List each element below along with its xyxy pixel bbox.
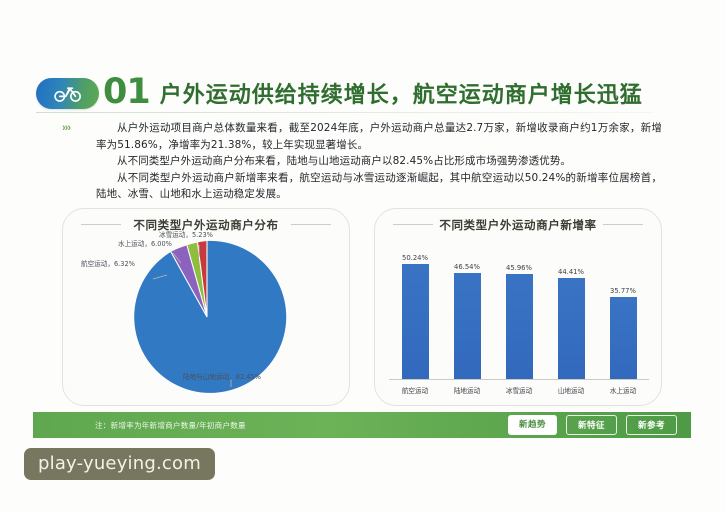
bar-column: 35.77% [602,239,644,379]
bar-value-label: 46.54% [454,263,480,271]
paragraph: 从不同类型户外运动商户新增率来看，航空运动与冰雪运动逐渐崛起，其中航空运动以50… [96,170,662,203]
bar-column: 50.24% [394,239,436,379]
bar-value-label: 44.41% [558,268,584,276]
footnote-text: 注：新增率为年新增商户数量/年初商户数量 [95,420,246,431]
slide-page: 01 户外运动供给持续增长，航空运动商户增长迅猛 ››› 从户外运动项目商户总体… [0,0,725,513]
section-number: 01 [103,75,150,110]
page-title: 户外运动供给持续增长，航空运动商户增长迅猛 [160,77,643,109]
footer-button-group: 新趋势 新特征 新参考 [508,415,677,435]
bar-category: 山地运动 [550,385,592,395]
footer-bar: 注：新增率为年新增商户数量/年初商户数量 新趋势 新特征 新参考 [33,412,691,438]
bar-chart-plot: 50.24% 46.54% 45.96% 44.41% [375,209,663,407]
bicycle-badge [36,78,99,109]
section-header: 01 户外运动供给持续增长，航空运动商户增长迅猛 [36,76,643,110]
bar-value-label: 35.77% [610,287,636,295]
paragraph: 从不同类型户外运动商户分布来看，陆地与山地运动商户以82.45%占比形成市场强势… [96,153,662,170]
pie-label-land: 陆地与山地运动，82.45% [183,373,261,381]
bar-category: 陆地运动 [446,385,488,395]
chevron-right-icon: ››› [62,120,96,136]
bar [402,264,429,379]
bar [610,297,637,379]
bar [558,278,585,380]
bicycle-icon [53,83,83,103]
bar-category: 水上运动 [602,385,644,395]
bar-column: 44.41% [550,239,592,379]
bar-category-labels: 航空运动 陆地运动 冰雪运动 山地运动 水上运动 [389,385,649,395]
bar-series: 50.24% 46.54% 45.96% 44.41% [389,239,649,379]
bar-category: 冰雪运动 [498,385,540,395]
header-divider [36,112,653,113]
new-trend-button[interactable]: 新趋势 [508,415,557,435]
bar-column: 46.54% [446,239,488,379]
bar-value-label: 50.24% [402,254,428,262]
paragraph: 从户外运动项目商户总体数量来看，截至2024年底，户外运动商户总量达2.7万家，… [96,120,662,153]
pie-slice-land [134,241,286,393]
body-text-block: ››› 从户外运动项目商户总体数量来看，截至2024年底，户外运动商户总量达2.… [62,120,662,203]
pie-label-ice: 冰雪运动，5.23% [159,231,213,239]
bar [506,274,533,379]
new-reference-button[interactable]: 新参考 [626,415,677,435]
pie-label-air: 航空运动，6.32% [81,260,135,268]
bar-chart-axis [389,379,649,380]
pie-label-water: 水上运动，6.00% [118,240,172,248]
bar-column: 45.96% [498,239,540,379]
bar-category: 航空运动 [394,385,436,395]
bar [454,273,481,379]
paragraph-list: 从户外运动项目商户总体数量来看，截至2024年底，户外运动商户总量达2.7万家，… [96,120,662,203]
charts-row: 不同类型户外运动商户分布 [62,208,662,408]
pie-chart-card: 不同类型户外运动商户分布 [62,208,350,406]
bar-value-label: 45.96% [506,264,532,272]
new-feature-button[interactable]: 新特征 [566,415,617,435]
bar-chart-card: 不同类型户外运动商户新增率 50.24% 46.54% 45.96% [374,208,662,406]
watermark: play-yueying.com [24,448,215,480]
pie-chart-plot: 冰雪运动，5.23% 水上运动，6.00% 航空运动，6.32% 陆地与山地运动… [63,209,351,407]
